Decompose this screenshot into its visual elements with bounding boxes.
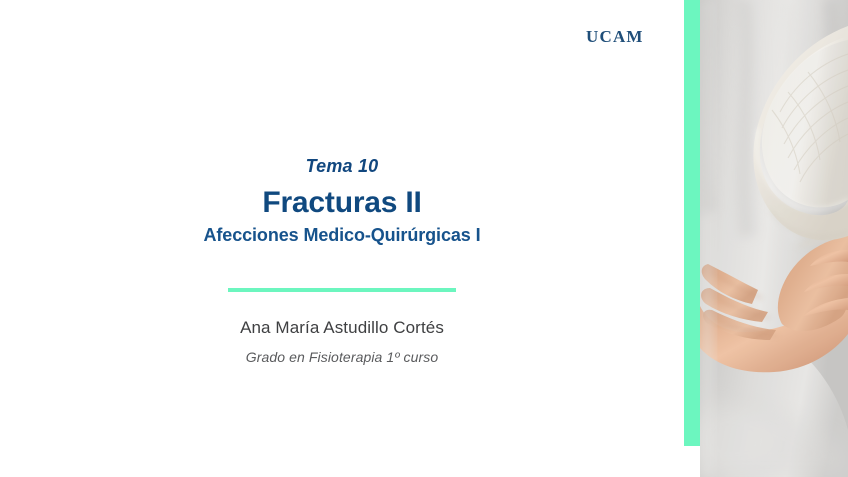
accent-bar-tail (684, 446, 700, 477)
author-block: Ana María Astudillo Cortés Grado en Fisi… (0, 317, 684, 366)
divider-rule (228, 288, 456, 292)
author-name: Ana María Astudillo Cortés (0, 317, 684, 339)
course-subtitle: Afecciones Medico-Quirúrgicas I (0, 225, 684, 247)
content-panel: UCAM Tema 10 Fracturas II Afecciones Med… (0, 0, 684, 477)
divider (0, 288, 684, 292)
page-title: Fracturas II (0, 186, 684, 220)
title-block: Tema 10 Fracturas II Afecciones Medico-Q… (0, 155, 684, 247)
presentation-title-slide: UCAM Tema 10 Fracturas II Afecciones Med… (0, 0, 848, 477)
topic-label: Tema 10 (0, 155, 684, 178)
ucam-logo: UCAM (586, 28, 644, 45)
accent-bar (684, 0, 700, 446)
photo-illustration (700, 0, 848, 477)
author-program: Grado en Fisioterapia 1º curso (0, 348, 684, 366)
bandaged-wrist-photo (700, 0, 848, 477)
